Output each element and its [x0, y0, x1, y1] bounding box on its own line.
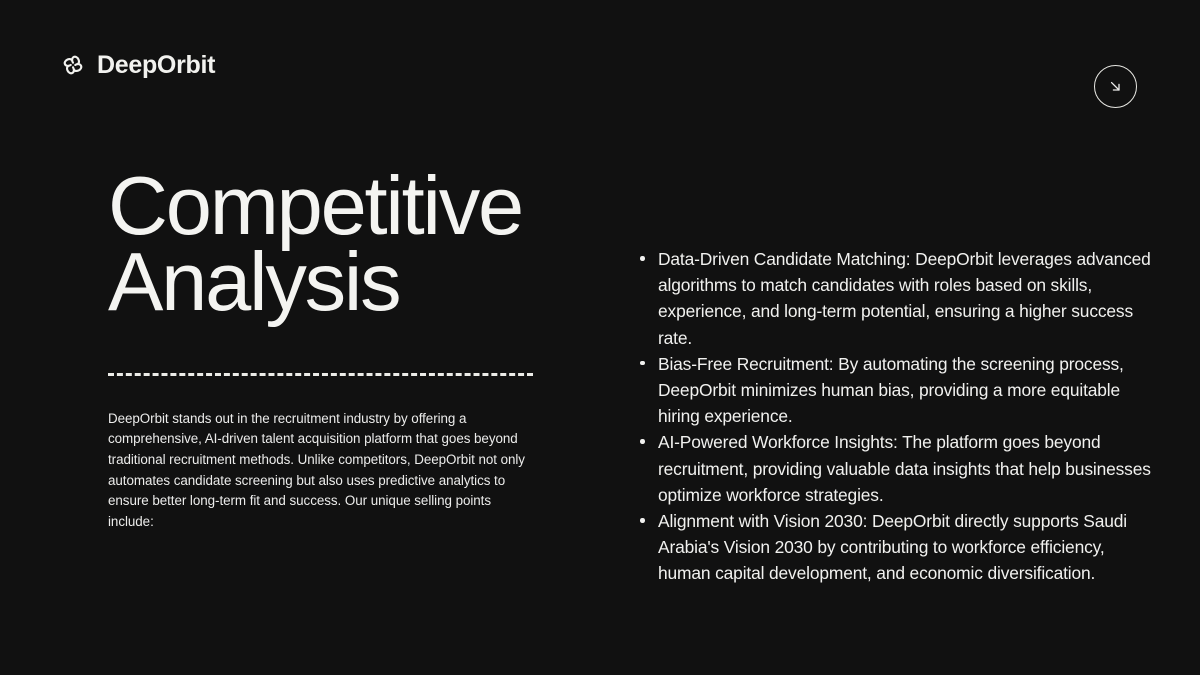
list-item: AI-Powered Workforce Insights: The platf… [636, 429, 1160, 508]
list-item: Alignment with Vision 2030: DeepOrbit di… [636, 508, 1160, 587]
brand-name: DeepOrbit [97, 53, 215, 78]
next-slide-button[interactable] [1094, 65, 1137, 108]
list-item: Bias-Free Recruitment: By automating the… [636, 351, 1160, 430]
list-item: Data-Driven Candidate Matching: DeepOrbi… [636, 246, 1160, 351]
selling-points-list: Data-Driven Candidate Matching: DeepOrbi… [636, 246, 1160, 587]
brand-logo[interactable]: DeepOrbit [60, 52, 215, 78]
orbit-knot-icon [60, 52, 86, 78]
left-column: Competitive Analysis DeepOrbit stands ou… [108, 168, 538, 532]
dashed-divider [108, 373, 533, 376]
arrow-down-right-icon [1105, 76, 1126, 97]
slide-root: DeepOrbit Competitive Analysis DeepOrbit… [0, 0, 1200, 675]
intro-paragraph: DeepOrbit stands out in the recruitment … [108, 409, 532, 533]
page-title: Competitive Analysis [108, 168, 538, 321]
right-column: Data-Driven Candidate Matching: DeepOrbi… [636, 246, 1160, 587]
